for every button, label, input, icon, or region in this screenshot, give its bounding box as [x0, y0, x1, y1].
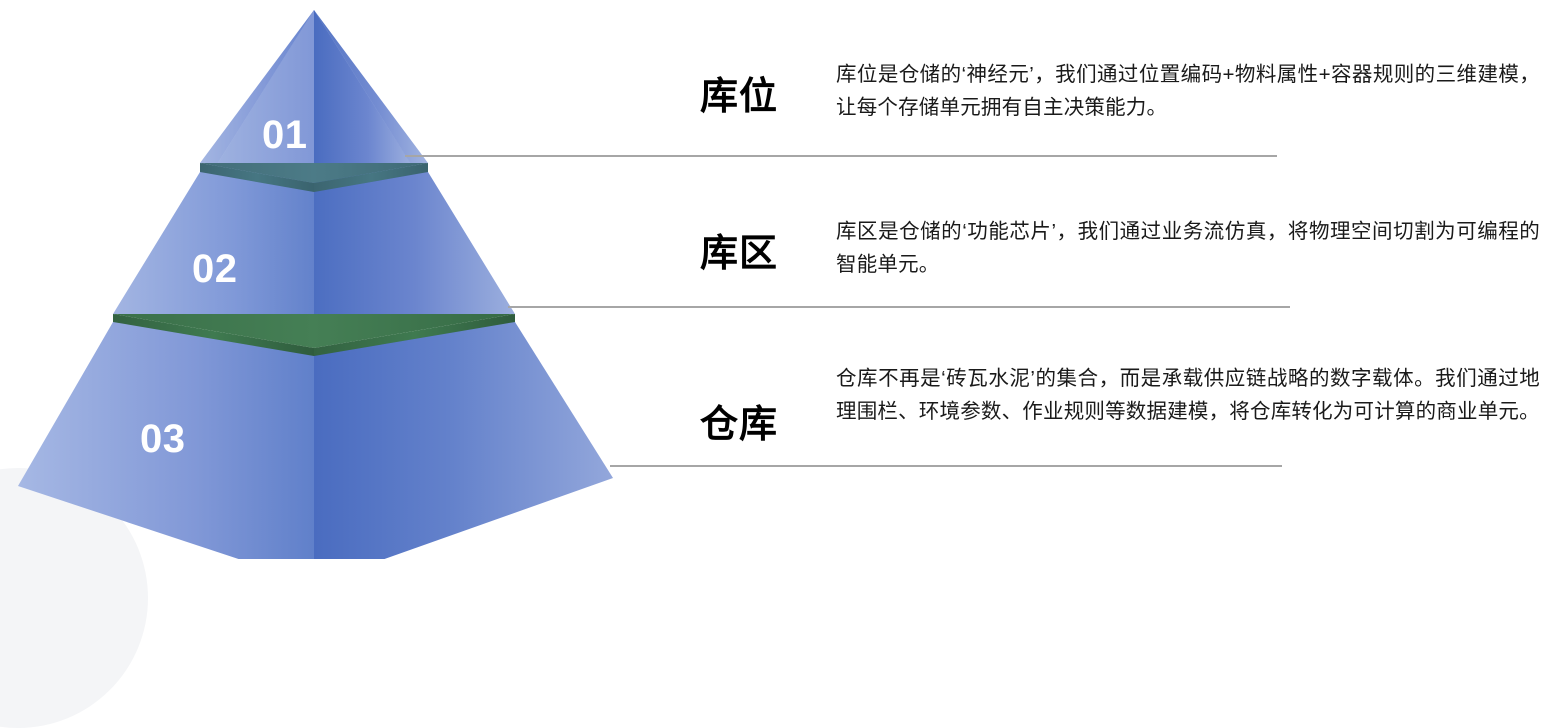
content-row-01: 库位 库位是仓储的‘神经元’，我们通过位置编码+物料属性+容器规则的三维建模，让… — [700, 58, 1540, 124]
tier-number-03: 03 — [140, 417, 186, 461]
three-tier-pyramid: 01 02 03 — [0, 0, 680, 559]
row-body-03: 仓库不再是‘砖瓦水泥’的集合，而是承载供应链战略的数字载体。我们通过地理围栏、环… — [836, 362, 1540, 428]
content-row-03: 仓库 仓库不再是‘砖瓦水泥’的集合，而是承载供应链战略的数字载体。我们通过地理围… — [700, 362, 1540, 448]
row-title-01: 库位 — [700, 58, 836, 120]
row-title-03: 仓库 — [700, 362, 836, 448]
connector-line-03 — [610, 465, 1282, 467]
row-body-01: 库位是仓储的‘神经元’，我们通过位置编码+物料属性+容器规则的三维建模，让每个存… — [836, 58, 1540, 124]
tier-number-02: 02 — [192, 247, 238, 291]
tier-number-01: 01 — [262, 113, 308, 157]
slide-canvas: 01 02 03 库位 库位是仓储的‘神经元’，我们通过位置编码+物料属性+容器… — [0, 0, 1552, 559]
pyramid-tier-03 — [18, 322, 613, 559]
row-title-02: 库区 — [700, 215, 836, 277]
connector-line-02 — [508, 306, 1290, 308]
content-row-02: 库区 库区是仓储的‘功能芯片’，我们通过业务流仿真，将物理空间切割为可编程的智能… — [700, 215, 1540, 281]
connector-line-01 — [405, 155, 1277, 157]
row-body-02: 库区是仓储的‘功能芯片’，我们通过业务流仿真，将物理空间切割为可编程的智能单元。 — [836, 215, 1540, 281]
pyramid-tier-02 — [113, 172, 515, 337]
pyramid-tier-01 — [200, 10, 428, 184]
